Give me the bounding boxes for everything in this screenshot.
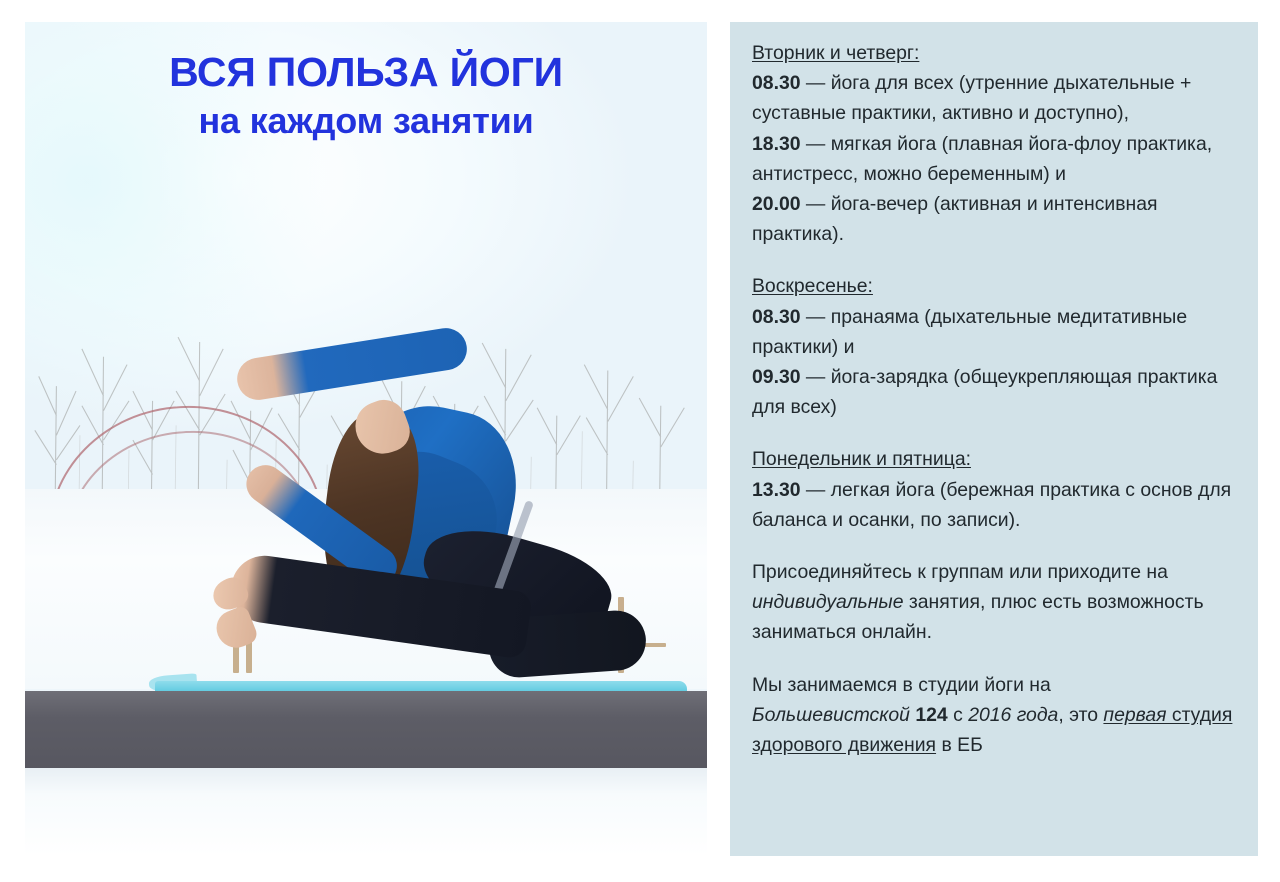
class-time: 09.30 (752, 366, 801, 388)
studio-info-paragraph: Мы занимаемся в студии йоги на Большевис… (752, 670, 1242, 761)
studio-intro: Мы занимаемся в студии йоги на (752, 674, 1051, 696)
studio-first-emphasis: первая (1103, 704, 1166, 726)
headline-line-1: ВСЯ ПОЛЬЗА ЙОГИ (25, 48, 707, 96)
schedule-text-content: Вторник и четверг: 08.30 — йога для всех… (730, 22, 1258, 760)
studio-tail: в ЕБ (936, 734, 983, 756)
foreground-snow (25, 768, 707, 856)
schedule-block-mon-fri: Понедельник и пятница: 13.30 — легкая йо… (752, 444, 1242, 535)
studio-street: Большевистской (752, 704, 910, 726)
class-time: 20.00 (752, 193, 801, 215)
class-time: 13.30 (752, 479, 801, 501)
invitation-emphasis: индивидуальные (752, 591, 903, 613)
class-description: — пранаяма (дыхательные медитативные пра… (752, 306, 1187, 358)
schedule-block-sunday: Воскресенье: 08.30 — пранаяма (дыхательн… (752, 271, 1242, 422)
schedule-header-tue-thu: Вторник и четверг: (752, 42, 919, 64)
class-description: — йога для всех (утренние дыхательные + … (752, 72, 1191, 124)
class-time: 08.30 (752, 72, 801, 94)
class-description: — йога-вечер (активная и интенсивная пра… (752, 193, 1158, 245)
class-time: 08.30 (752, 306, 801, 328)
studio-mid: с (948, 704, 968, 726)
studio-since-year: 2016 года (968, 704, 1058, 726)
class-description: — йога-зарядка (общеукрепляющая практика… (752, 366, 1217, 418)
schedule-header-mon-fri: Понедельник и пятница: (752, 448, 971, 470)
poster-page: ВСЯ ПОЛЬЗА ЙОГИ на каждом занятии Вторни… (0, 0, 1280, 882)
class-description: — легкая йога (бережная практика с основ… (752, 479, 1231, 531)
class-description: — мягкая йога (плавная йога-флоу практик… (752, 133, 1212, 185)
yoga-photo-card: ВСЯ ПОЛЬЗА ЙОГИ на каждом занятии (25, 22, 707, 856)
schedule-header-sunday: Воскресенье: (752, 275, 873, 297)
invitation-part-1: Присоединяйтесь к группам или приходите … (752, 561, 1168, 583)
invitation-paragraph: Присоединяйтесь к группам или приходите … (752, 557, 1242, 648)
raised-arm (235, 325, 471, 402)
headline-line-2: на каждом занятии (25, 100, 707, 142)
studio-after-year: , это (1058, 704, 1103, 726)
schedule-block-tue-thu: Вторник и четверг: 08.30 — йога для всех… (752, 38, 1242, 249)
studio-house-number: 124 (915, 704, 947, 726)
poster-headline: ВСЯ ПОЛЬЗА ЙОГИ на каждом занятии (25, 48, 707, 143)
class-time: 18.30 (752, 133, 801, 155)
schedule-text-panel: Вторник и четверг: 08.30 — йога для всех… (730, 22, 1258, 856)
